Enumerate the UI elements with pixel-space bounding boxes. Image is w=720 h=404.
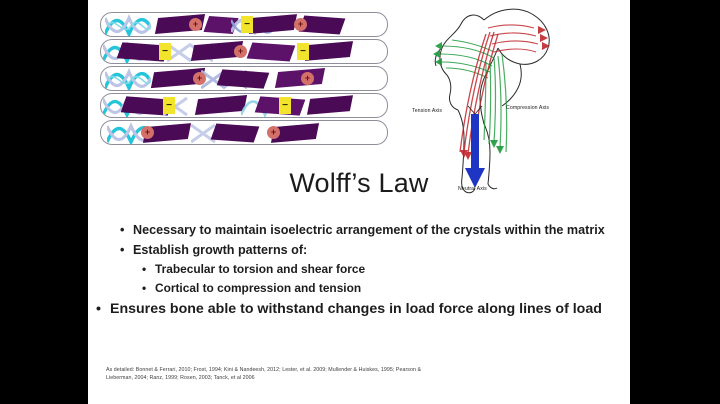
bullet-text: Cortical to compression and tension [155, 280, 630, 298]
collagen-row: + + [100, 66, 388, 91]
positive-charge-marker: + [234, 45, 247, 58]
bullet-item: • Establish growth patterns of: [120, 242, 630, 260]
citation-line-1: As detailed: Bonnet & Ferrari, 2010; Fro… [106, 366, 536, 374]
presentation-slide: + − + [88, 0, 630, 404]
positive-charge-marker: + [141, 126, 154, 139]
collagen-row: + − + [100, 12, 388, 37]
letterbox-bar-left [0, 0, 88, 404]
bullet-text: Ensures bone able to withstand changes i… [110, 300, 630, 319]
collagen-helix-icon [105, 14, 151, 37]
collagen-row: − − [100, 93, 388, 118]
negative-charge-marker: − [241, 16, 253, 33]
bullet-text: Establish growth patterns of: [133, 242, 630, 260]
slide-title: Wolff’s Law [88, 168, 630, 199]
collagen-row: + + [100, 120, 388, 145]
collagen-helix-icon [105, 68, 151, 91]
negative-charge-marker: − [297, 43, 309, 60]
bullet-marker: • [142, 261, 146, 279]
crystal-plate [249, 14, 297, 34]
tension-trabeculae [488, 25, 538, 52]
collagen-row: − + − [100, 39, 388, 64]
positive-charge-marker: + [294, 18, 307, 31]
positive-charge-marker: + [267, 126, 280, 139]
compression-axis-lines [484, 54, 507, 152]
bullet-marker: • [96, 300, 101, 319]
crystal-plate [211, 123, 260, 142]
crystal-plate [247, 42, 296, 61]
crystal-plate [307, 95, 353, 115]
crystal-plate [275, 68, 325, 88]
collagen-crystal-diagram: + − + [100, 10, 388, 150]
crystal-plate [217, 69, 270, 88]
compression-axis-label: Compression Axis [506, 105, 549, 111]
bullet-item: • Trabecular to torsion and shear force [142, 261, 630, 279]
letterbox-bar-right [630, 0, 720, 404]
bullet-list: • Necessary to maintain isoelectric arra… [88, 222, 630, 319]
citation-line-2: Lieberman, 2004; Ranz, 1999; Rosen, 2003… [106, 374, 536, 382]
bullet-item: • Cortical to compression and tension [142, 280, 630, 298]
citation-footnote: As detailed: Bonnet & Ferrari, 2010; Fro… [106, 366, 536, 383]
negative-charge-marker: − [163, 97, 175, 114]
positive-charge-marker: + [301, 72, 314, 85]
tension-axis-label: Tension Axis [412, 108, 442, 114]
bullet-marker: • [120, 242, 124, 260]
negative-charge-marker: − [159, 43, 171, 60]
positive-charge-marker: + [189, 18, 202, 31]
video-frame: + − + [0, 0, 720, 404]
positive-charge-marker: + [193, 72, 206, 85]
bullet-text: Trabecular to torsion and shear force [155, 261, 630, 279]
crystal-plate [195, 95, 247, 115]
negative-charge-marker: − [279, 97, 291, 114]
crystal-plate [305, 41, 353, 61]
bullet-item: • Ensures bone able to withstand changes… [96, 300, 630, 319]
bullet-marker: • [142, 280, 146, 298]
bullet-marker: • [120, 222, 124, 240]
bullet-item: • Necessary to maintain isoelectric arra… [120, 222, 630, 240]
bullet-text: Necessary to maintain isoelectric arrang… [133, 222, 630, 240]
